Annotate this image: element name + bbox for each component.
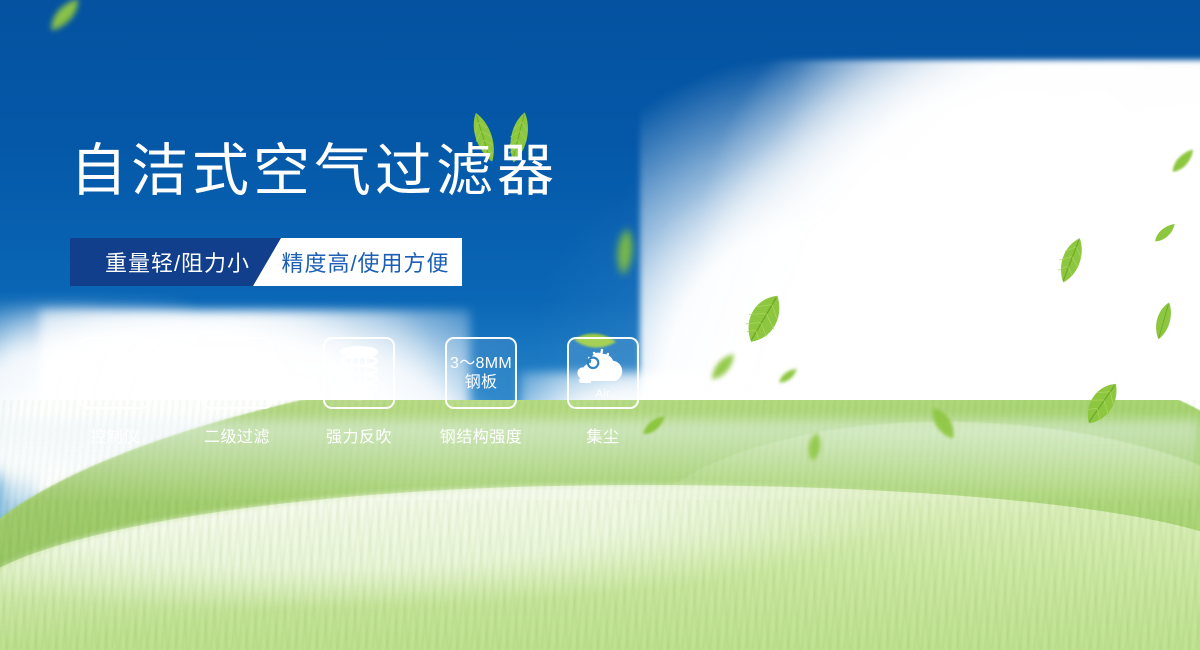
feature-caption: 控制仪: [90, 423, 140, 447]
banner-content: 自洁式空气过滤器 重量轻/阻力小 精度高/使用方便: [0, 0, 1200, 650]
banner-root: 自洁式空气过滤器 重量轻/阻力小 精度高/使用方便: [0, 0, 1200, 650]
feature-caption: 钢结构强度: [440, 423, 523, 447]
pressure-text-icon: 0.6～0.8 MPA: [206, 354, 269, 392]
feature-icon-box: NO OFF: [79, 337, 151, 409]
feature-list: NO OFF 控制仪 0.6～0.8 MPA 二级过滤: [70, 337, 648, 447]
feature-item-steel-strength[interactable]: 3～8MM 钢板 钢结构强度: [436, 337, 526, 447]
feature-icon-box: Air: [567, 337, 639, 409]
svg-text:NO: NO: [89, 368, 100, 375]
feature-icon-box: 3～8MM 钢板: [445, 337, 517, 409]
subtitle-left-panel: 重量轻/阻力小: [70, 238, 285, 286]
cloud-air-icon: [572, 345, 634, 391]
feature-caption: 二级过滤: [204, 423, 270, 447]
feature-caption: 强力反吹: [326, 423, 392, 447]
page-title: 自洁式空气过滤器: [70, 143, 558, 200]
subtitle-right-panel: 精度高/使用方便: [253, 238, 462, 286]
control-dial-icon: NO OFF: [83, 341, 147, 405]
feature-icon-box: 0.6～0.8 MPA: [201, 337, 273, 409]
subtitle-right-text: 精度高/使用方便: [281, 246, 449, 278]
svg-text:OFF: OFF: [124, 389, 139, 396]
filter-stack-icon: [331, 344, 387, 402]
feature-item-control-dial[interactable]: NO OFF 控制仪: [70, 337, 160, 447]
subtitle-bar: 重量轻/阻力小 精度高/使用方便: [70, 238, 462, 286]
feature-caption: 集尘: [586, 423, 619, 447]
air-label: Air: [569, 388, 637, 400]
feature-icon-box: [323, 337, 395, 409]
feature-item-backblow[interactable]: 强力反吹: [314, 337, 404, 447]
feature-item-dust-collection[interactable]: Air 集尘: [558, 337, 648, 447]
feature-item-pressure[interactable]: 0.6～0.8 MPA 二级过滤: [192, 337, 282, 447]
steel-plate-text-icon: 3～8MM 钢板: [450, 354, 512, 392]
subtitle-left-text: 重量轻/阻力小: [105, 246, 250, 278]
